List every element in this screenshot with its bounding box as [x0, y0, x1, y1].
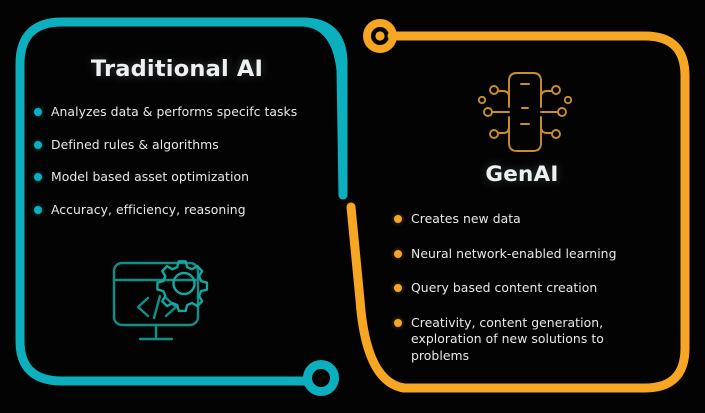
bullet-dot-icon: [34, 108, 42, 116]
list-item-label: Creativity, content generation, explorat…: [411, 315, 621, 365]
panel-genai: GenAI Creates new data Neural network-en…: [372, 58, 672, 364]
bullet-dot-icon: [394, 250, 402, 258]
panel-title-traditional-ai: Traditional AI: [18, 56, 336, 82]
bullet-dot-icon: [394, 215, 402, 223]
list-item: Creates new data: [394, 211, 672, 228]
bullet-dot-icon: [34, 141, 42, 149]
list-item: Query based content creation: [394, 280, 672, 297]
infographic-canvas: Traditional AI Analyzes data & performs …: [0, 0, 705, 413]
bullet-list-traditional-ai: Analyzes data & performs specifc tasks D…: [18, 104, 336, 218]
monitor-code-gear-icon: [108, 253, 226, 353]
list-item-label: Neural network-enabled learning: [411, 246, 617, 263]
list-item-label: Accuracy, efficiency, reasoning: [51, 202, 246, 219]
list-item: Creativity, content generation, explorat…: [394, 315, 672, 365]
panel-traditional-ai: Traditional AI Analyzes data & performs …: [18, 56, 336, 234]
list-item: Neural network-enabled learning: [394, 246, 672, 263]
list-item: Defined rules & algorithms: [34, 137, 336, 154]
bullet-dot-icon: [394, 284, 402, 292]
orange-ring-endpoint: [360, 16, 400, 56]
list-item-label: Analyzes data & performs specifc tasks: [51, 104, 297, 121]
bullet-dot-icon: [394, 319, 402, 327]
list-item: Model based asset optimization: [34, 169, 336, 186]
bullet-list-genai: Creates new data Neural network-enabled …: [372, 211, 672, 364]
list-item-label: Query based content creation: [411, 280, 597, 297]
list-item: Analyzes data & performs specifc tasks: [34, 104, 336, 121]
list-item-label: Defined rules & algorithms: [51, 137, 219, 154]
list-item-label: Creates new data: [411, 211, 521, 228]
bullet-dot-icon: [34, 173, 42, 181]
bullet-dot-icon: [34, 206, 42, 214]
list-item-label: Model based asset optimization: [51, 169, 249, 186]
teal-ring-endpoint: [300, 357, 342, 399]
list-item: Accuracy, efficiency, reasoning: [34, 202, 336, 219]
panel-title-genai: GenAI: [372, 162, 672, 187]
